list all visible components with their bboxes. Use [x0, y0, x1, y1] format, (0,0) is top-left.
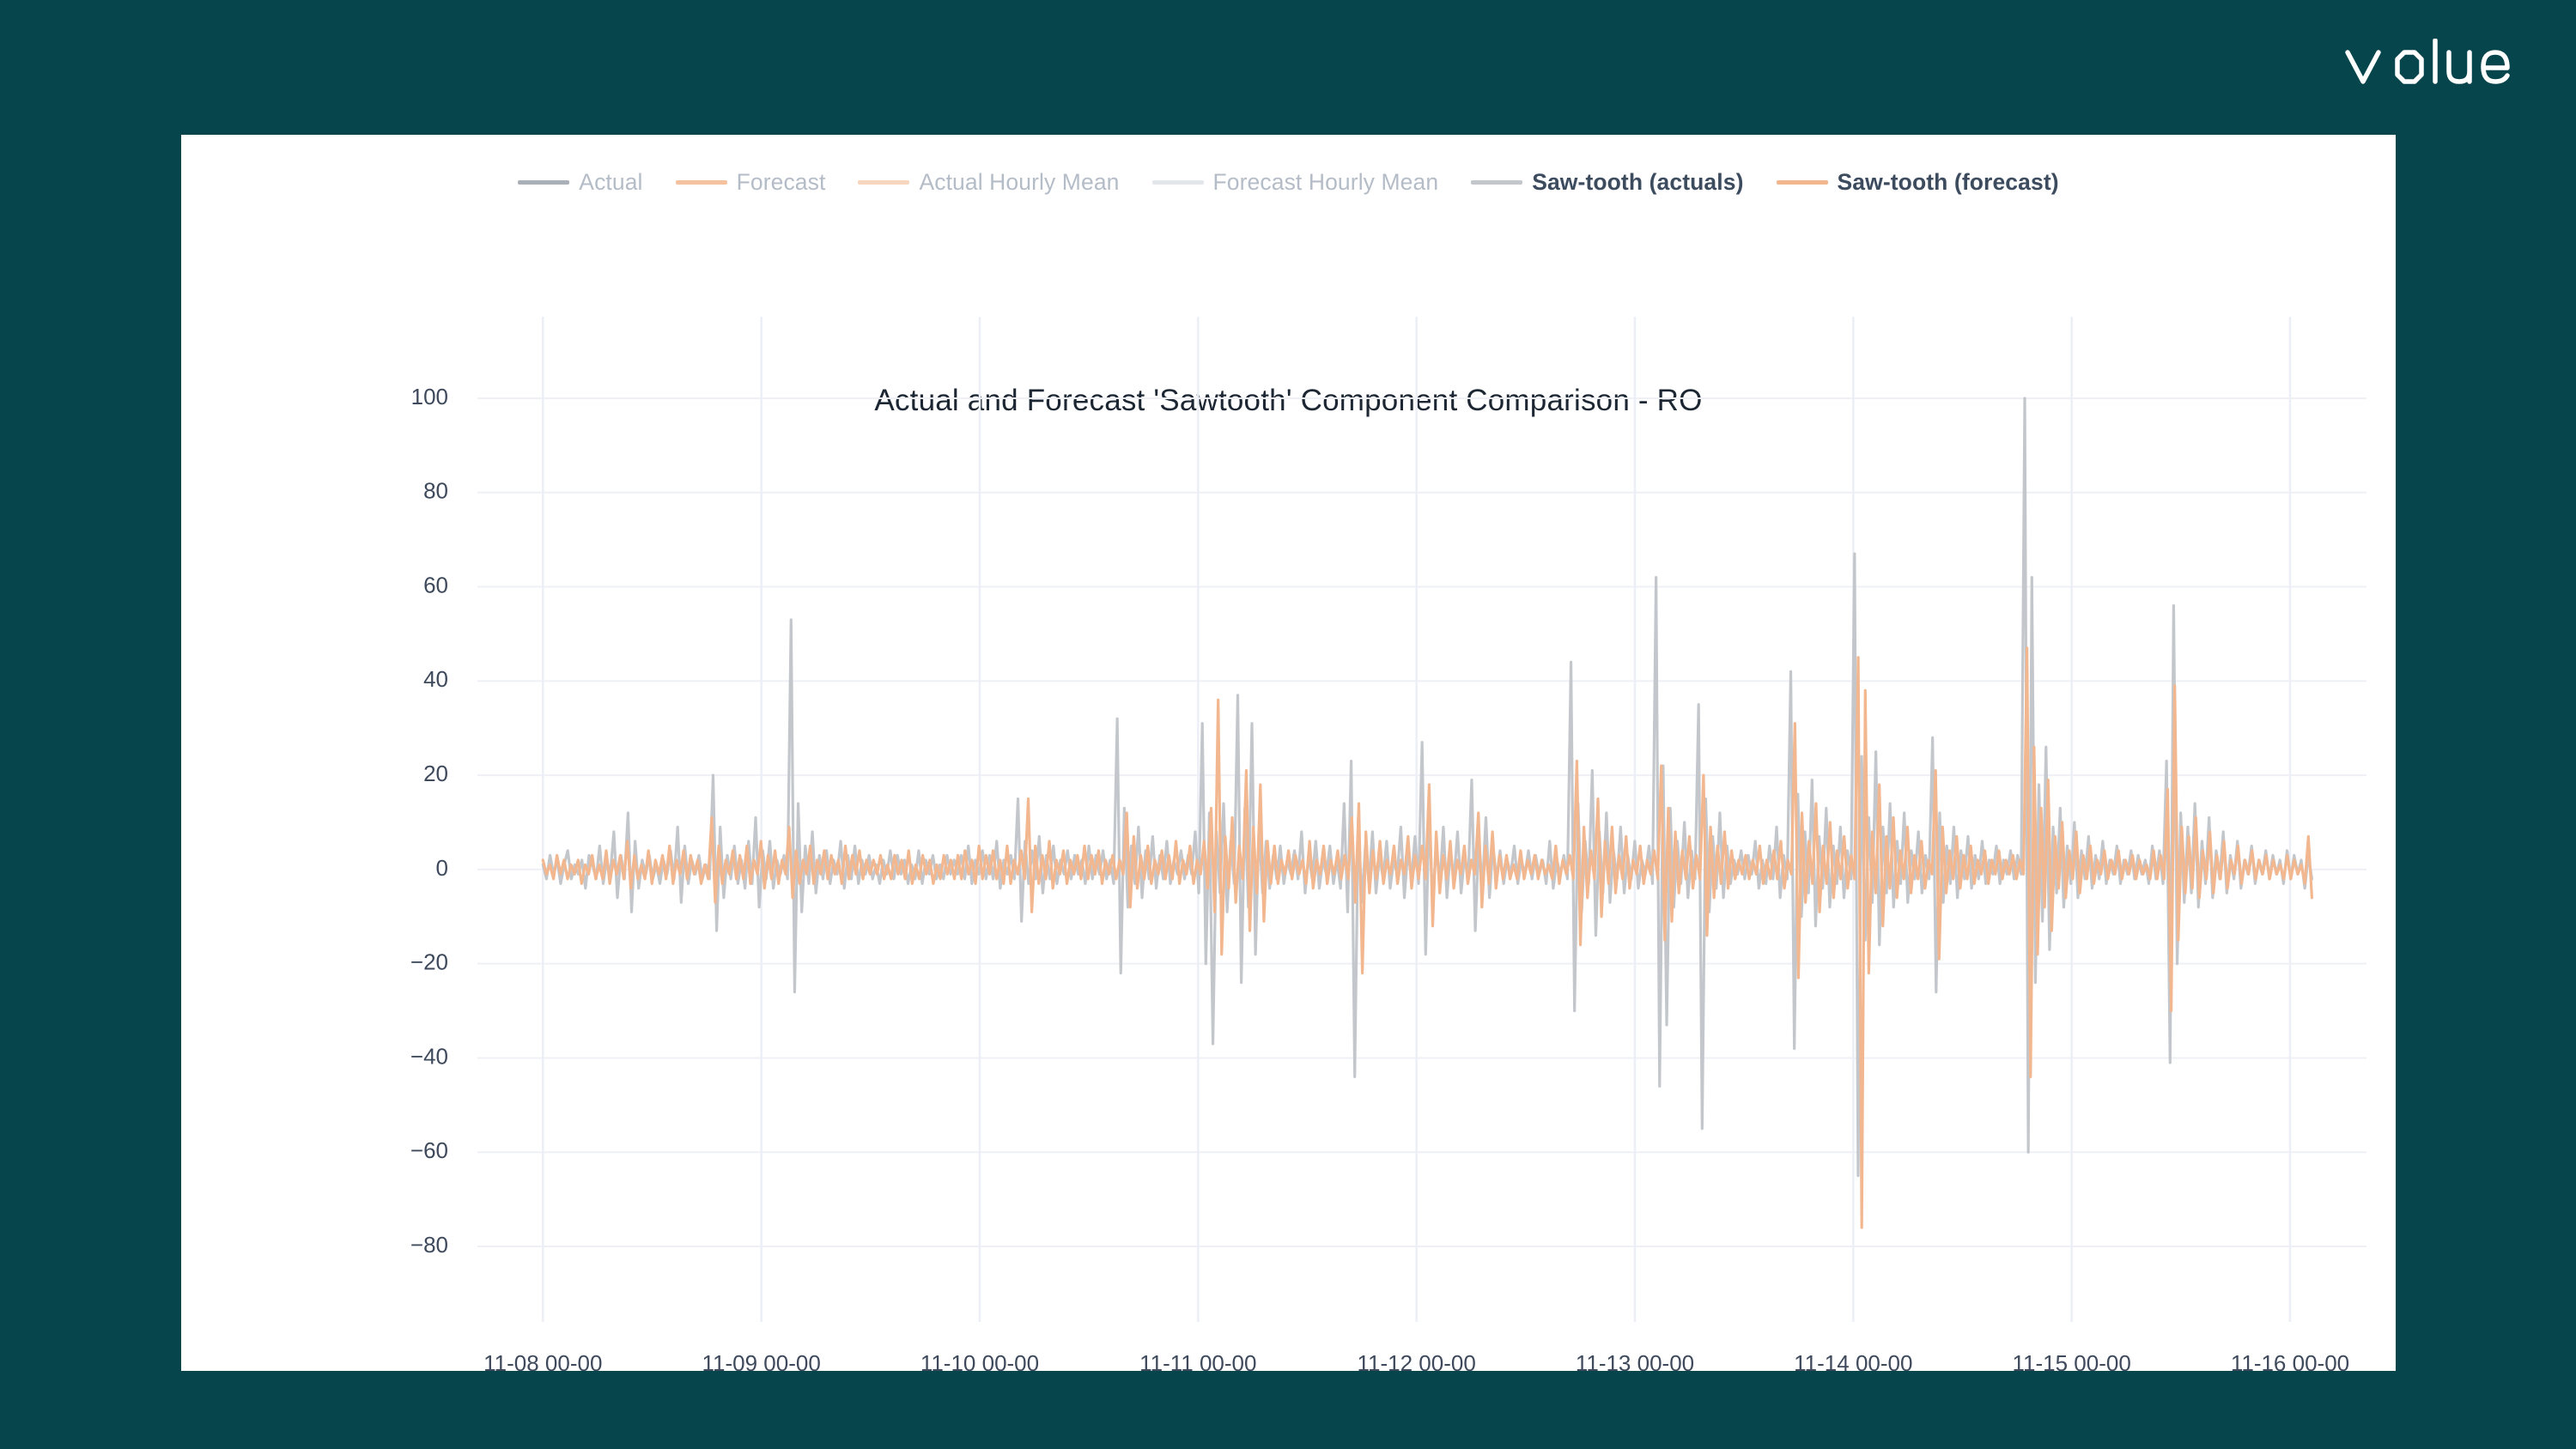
volue-wordmark-icon	[2344, 39, 2512, 90]
y-axis-tick-label: −80	[410, 1232, 448, 1258]
plot-area[interactable]: 11-08 00-0011-09 00-0011-10 00-0011-11 0…	[181, 135, 2396, 1371]
x-axis-tick-label: 11-14 00-00	[1794, 1350, 1912, 1371]
x-axis-tick-label: 11-10 00-00	[920, 1350, 1039, 1371]
app-root: Actual Forecast Actual Hourly Mean Forec…	[0, 0, 2576, 1449]
y-axis-tick-label: −60	[410, 1137, 448, 1163]
y-axis-tick-label: 100	[411, 384, 448, 409]
x-axis-tick-label: 11-11 00-00	[1139, 1350, 1256, 1371]
sawtooth-line-chart[interactable]: 11-08 00-0011-09 00-0011-10 00-0011-11 0…	[181, 135, 2396, 1371]
y-axis-tick-label: −40	[410, 1043, 448, 1069]
chart-card: Actual Forecast Actual Hourly Mean Forec…	[181, 135, 2396, 1371]
x-axis-tick-label: 11-09 00-00	[702, 1350, 820, 1371]
series-line-sawtooth-actuals	[543, 398, 2312, 1176]
volue-logo	[2344, 36, 2512, 93]
y-axis-tick-label: −20	[410, 949, 448, 975]
x-axis-tick-label: 11-13 00-00	[1576, 1350, 1694, 1371]
y-axis-tick-label: 80	[423, 478, 448, 504]
x-axis-tick-label: 11-12 00-00	[1357, 1350, 1475, 1371]
y-axis-tick-label: 20	[423, 761, 448, 786]
y-axis-tick-label: 40	[423, 666, 448, 692]
x-axis-tick-label: 11-15 00-00	[2012, 1350, 2130, 1371]
x-axis-tick-label: 11-08 00-00	[483, 1350, 602, 1371]
y-axis-tick-label: 0	[436, 855, 448, 881]
x-axis-tick-label: 11-16 00-00	[2231, 1350, 2349, 1371]
y-axis-tick-label: 60	[423, 572, 448, 597]
